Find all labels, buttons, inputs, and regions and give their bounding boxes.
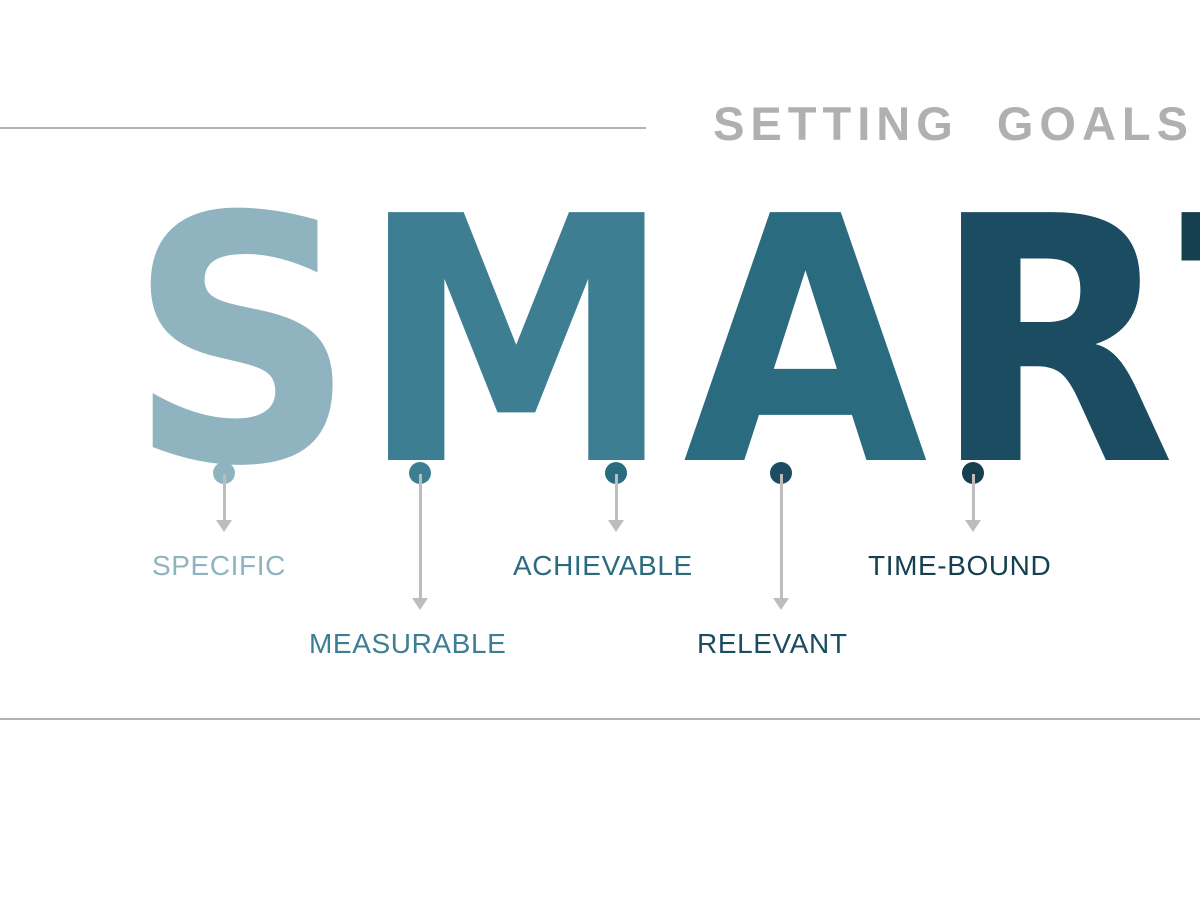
smart-letter-r: R — [932, 218, 1162, 470]
smart-letter-m: M — [359, 218, 661, 470]
page-title: SETTING GOALS — [713, 100, 1194, 147]
arrow-head-icon — [773, 598, 789, 610]
smart-wordmark: S M A R T — [128, 218, 1200, 463]
label-achievable: ACHIEVABLE — [513, 552, 693, 580]
arrow-head-icon — [965, 520, 981, 532]
label-specific: SPECIFIC — [152, 552, 286, 580]
connector-stem — [223, 474, 226, 520]
arrow-head-icon — [412, 598, 428, 610]
arrow-head-icon — [608, 520, 624, 532]
header-divider — [0, 127, 646, 129]
connector-stem — [615, 474, 618, 520]
smart-letter-a: A — [683, 218, 915, 470]
connector-stem — [419, 474, 422, 598]
label-time-bound: TIME-BOUND — [868, 552, 1051, 580]
arrow-head-icon — [216, 520, 232, 532]
footer-divider — [0, 718, 1200, 720]
connector-stem — [972, 474, 975, 520]
smart-letter-t: T — [1180, 218, 1200, 470]
slide-canvas: SETTING GOALS S M A R T SPECIFIC MEASURA… — [0, 0, 1200, 900]
connector-stem — [780, 474, 783, 598]
label-relevant: RELEVANT — [697, 630, 848, 658]
smart-letter-s: S — [128, 218, 343, 470]
label-measurable: MEASURABLE — [309, 630, 506, 658]
